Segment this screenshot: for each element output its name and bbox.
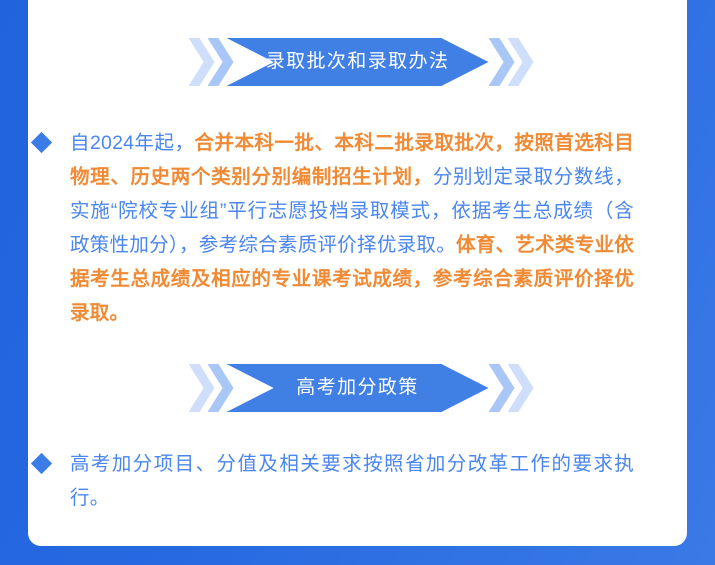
paragraph-text-1: 自2024年起，合并本科一批、本科二批录取批次，按照首选科目物理、历史两个类别分…: [70, 126, 634, 330]
section-banner-2: 高考加分政策: [28, 364, 687, 412]
diamond-bullet-icon: [31, 453, 52, 474]
chevron-right-inner-icon: [489, 38, 515, 86]
page-root: 录取批次和录取办法 自2024年起，合并本科一批、本科二批录取批次，按照首选科目…: [0, 0, 715, 565]
section-title-2: 高考加分政策: [296, 364, 418, 412]
paragraph-block-1: 自2024年起，合并本科一批、本科二批录取批次，按照首选科目物理、历史两个类别分…: [34, 126, 634, 330]
paragraph-block-2: 高考加分项目、分值及相关要求按照省加分改革工作的要求执行。: [34, 447, 634, 515]
banner-graphic-2: 高考加分政策: [189, 364, 527, 412]
paragraph-text-2: 高考加分项目、分值及相关要求按照省加分改革工作的要求执行。: [70, 447, 634, 515]
chevron-left-outer-icon: [189, 364, 215, 412]
section-title-1: 录取批次和录取办法: [266, 38, 450, 86]
diamond-bullet-icon: [31, 132, 52, 153]
section-banner-1: 录取批次和录取办法: [28, 38, 687, 86]
banner-graphic-1: 录取批次和录取办法: [189, 38, 527, 86]
chevron-left-outer-icon: [189, 38, 215, 86]
body-text: 高考加分项目、分值及相关要求按照省加分改革工作的要求执行。: [70, 453, 634, 509]
chevron-right-inner-icon: [489, 364, 515, 412]
body-text: 自2024年起，: [70, 132, 194, 154]
